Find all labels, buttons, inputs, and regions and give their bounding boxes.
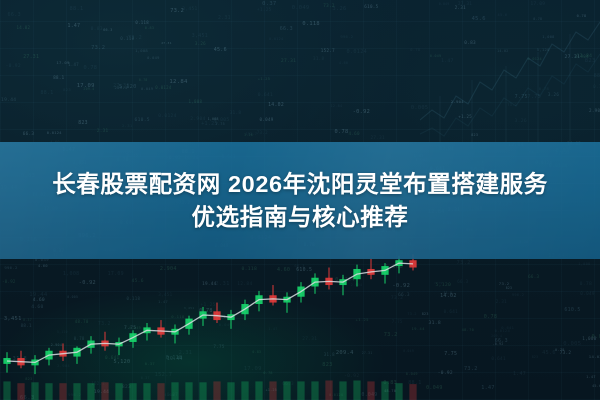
ticker-speck: 1,008 <box>578 262 590 266</box>
ticker-speck: 0.118 <box>135 20 149 25</box>
ticker-speck: 19.44 <box>1 98 16 103</box>
ticker-speck: 27.31 <box>371 136 385 141</box>
volume-bar <box>115 383 122 400</box>
volume-bar <box>297 381 304 400</box>
volume-bar <box>73 383 80 400</box>
ticker-speck: 3.26 <box>244 133 253 137</box>
ticker-speck: 823 <box>532 355 539 359</box>
ticker-speck: 17.09 <box>56 60 69 65</box>
volume-bar <box>213 381 220 400</box>
ticker-speck: 73.2 <box>499 281 510 286</box>
ticker-speck: 996.2 <box>512 293 524 297</box>
ticker-speck: 0.049 <box>292 5 310 11</box>
ticker-speck: 12.84 <box>169 79 187 85</box>
ticker-speck: 3.26 <box>195 41 206 46</box>
ticker-speck: 1.47 <box>513 371 526 377</box>
ticker-speck: 1.47 <box>68 24 81 29</box>
ticker-speck: 3,451 <box>192 33 208 39</box>
volume-bar <box>129 383 136 400</box>
ticker-speck: 27.31 <box>161 41 172 45</box>
volume-bar <box>269 381 276 400</box>
ticker-speck: 66.3 <box>528 274 539 279</box>
ticker-speck: 3,451 <box>182 7 197 12</box>
volume-bar <box>283 381 290 400</box>
ticker-speck: 823 <box>63 87 71 92</box>
volume-bar <box>143 383 150 400</box>
ticker-speck: 73.2 <box>323 4 335 9</box>
ticker-speck: 73.2 <box>91 45 105 51</box>
volume-bar <box>171 382 178 400</box>
volume-bar <box>157 383 164 400</box>
banner-image: 209.448.7017.0914.023,45173.25,1200.8366… <box>0 0 600 400</box>
ticker-speck: 0.118 <box>302 21 319 27</box>
ticker-speck: 2.31 <box>218 16 231 21</box>
volume-bar <box>101 382 108 400</box>
ticker-speck: +1.25 <box>201 121 218 127</box>
ticker-speck: 610.5 <box>564 307 580 313</box>
ticker-speck: 0.83 <box>145 26 155 30</box>
ticker-speck: 66.3 <box>457 279 468 284</box>
volume-bar <box>17 383 24 400</box>
volume-bar <box>325 381 332 400</box>
volume-bar <box>59 383 66 400</box>
ticker-speck: 209.4 <box>83 87 94 91</box>
ticker-speck: 0.005 <box>592 334 600 340</box>
ticker-speck: -0.92 <box>438 371 453 376</box>
ticker-speck: 66.3 <box>280 26 293 32</box>
ticker-speck: 610.5 <box>364 4 378 9</box>
ticker-speck: 0.005 <box>563 341 581 347</box>
ticker-speck: 0.641 <box>491 357 505 362</box>
volume-bar <box>311 381 318 400</box>
volume-bar <box>395 383 402 400</box>
ticker-speck: 45.6 <box>214 47 227 53</box>
ticker-speck: 0.0124 <box>47 131 62 135</box>
title-block: 长春股票配资网 2026年沈阳灵堂布置搭建服务 优选指南与核心推荐 <box>0 142 600 259</box>
ticker-speck: 0.83 <box>91 27 103 32</box>
ticker-speck: 1.47 <box>586 375 595 379</box>
ticker-speck: 0.78 <box>84 65 98 71</box>
ticker-speck: 0.78 <box>410 48 420 52</box>
ticker-speck: 0.049 <box>260 117 274 122</box>
ticker-speck: 31.8 <box>444 291 453 295</box>
volume-bar <box>87 383 94 400</box>
ticker-speck: 0.049 <box>426 385 443 391</box>
volume-bar <box>367 381 374 400</box>
candlestick-chart-svg <box>0 236 420 400</box>
ticker-speck: 209.4 <box>115 85 128 90</box>
volume-bar <box>409 384 416 400</box>
ticker-speck: 48.70 <box>462 328 475 332</box>
ticker-speck: 0.118 <box>120 36 134 41</box>
ticker-speck: 27.31 <box>281 59 296 64</box>
title-line-1: 长春股票配资网 2026年沈阳灵堂布置搭建服务 <box>52 169 548 199</box>
ticker-speck: -0.92 <box>353 109 370 115</box>
ticker-speck: 73.2 <box>457 260 471 266</box>
ticker-speck: 27.31 <box>23 55 39 60</box>
ticker-speck: 0.049 <box>141 87 153 91</box>
ticker-speck: 0.641 <box>444 310 458 315</box>
title-line-2: 优选指南与核心推荐 <box>192 202 409 232</box>
ticker-speck: 0.37 <box>262 1 276 7</box>
ticker-speck: 823 <box>506 286 513 290</box>
ticker-speck: 0.78 <box>139 78 148 82</box>
ticker-speck: 5,120 <box>436 283 452 288</box>
ticker-speck: 66.3 <box>8 12 21 18</box>
ticker-speck: 31.8 <box>313 56 324 61</box>
ticker-speck: 610.5 <box>135 118 150 123</box>
moving-average-line <box>7 263 413 362</box>
ticker-speck: 209.4 <box>491 334 502 338</box>
ticker-speck: 1,008 <box>189 99 203 104</box>
ticker-speck: 88.1 <box>41 90 54 96</box>
ticker-speck: 152.7 <box>321 48 335 53</box>
ticker-speck: 73.2 <box>560 351 572 356</box>
volume-bar <box>255 381 262 400</box>
ticker-speck: 0.0124 <box>347 49 368 55</box>
ticker-speck: 1.47 <box>481 385 494 391</box>
ticker-speck: 4.60 <box>349 131 360 136</box>
ticker-speck: 31.8 <box>230 111 242 116</box>
ticker-speck: 88.1 <box>53 75 64 80</box>
ticker-speck: 4.60 <box>339 61 348 65</box>
volume-bar <box>199 382 206 400</box>
volume-bar <box>31 382 38 400</box>
ticker-speck: 0.0124 <box>158 114 176 119</box>
volume-bar <box>227 382 234 400</box>
ticker-speck: 14.02 <box>268 103 284 108</box>
ticker-speck: 66.3 <box>23 132 35 137</box>
ticker-speck: 45.6 <box>542 350 556 356</box>
ticker-speck: 0.78 <box>484 314 497 320</box>
ticker-speck: 31.8 <box>429 321 442 326</box>
volume-bar <box>45 383 52 400</box>
ticker-speck: 73.2 <box>170 8 184 14</box>
ticker-speck: 2.31 <box>496 299 507 304</box>
ticker-speck: 12.84 <box>331 104 343 108</box>
ticker-speck: 1,008 <box>135 48 148 53</box>
volume-bar <box>353 381 360 400</box>
volume-bar <box>241 381 248 400</box>
ticker-speck: 66.3 <box>103 28 112 32</box>
ticker-speck: 823 <box>422 312 429 316</box>
ticker-speck: 0.049 <box>580 292 594 297</box>
ticker-speck: 66.3 <box>495 338 508 344</box>
volume-bar <box>185 382 192 400</box>
ticker-speck: +1.25 <box>257 8 272 13</box>
ticker-speck: 88.1 <box>70 6 84 12</box>
ticker-speck: 7.75 <box>444 351 457 357</box>
ticker-speck: 0.78 <box>335 129 349 135</box>
background-chart-ghost-icon <box>420 0 600 150</box>
ticker-speck: 0.0124 <box>269 37 283 41</box>
volume-bar <box>339 381 346 400</box>
volume-bar <box>3 381 10 400</box>
ticker-speck: 996.2 <box>340 34 353 39</box>
ticker-speck: +1.25 <box>258 77 270 81</box>
ticker-speck: 0.0124 <box>495 328 511 333</box>
candlestick-chart <box>0 236 420 400</box>
ticker-speck: 45.6 <box>592 384 600 388</box>
ticker-speck: 14.02 <box>17 25 31 30</box>
ticker-speck: 0.641 <box>258 93 273 98</box>
ticker-speck: 73.2 <box>464 366 478 372</box>
ticker-speck: 823 <box>78 121 88 126</box>
ticker-speck: 2.31 <box>122 123 133 128</box>
volume-bar <box>381 381 388 400</box>
ticker-speck: 0.0124 <box>155 85 171 90</box>
ticker-speck: 73.2 <box>257 130 268 135</box>
ticker-speck: 0.78 <box>580 282 593 287</box>
ticker-speck: 2.31 <box>97 129 109 134</box>
ticker-speck: -0.92 <box>6 64 21 69</box>
ticker-speck: 0.049 <box>147 56 160 60</box>
ticker-speck: 14.02 <box>589 354 600 359</box>
